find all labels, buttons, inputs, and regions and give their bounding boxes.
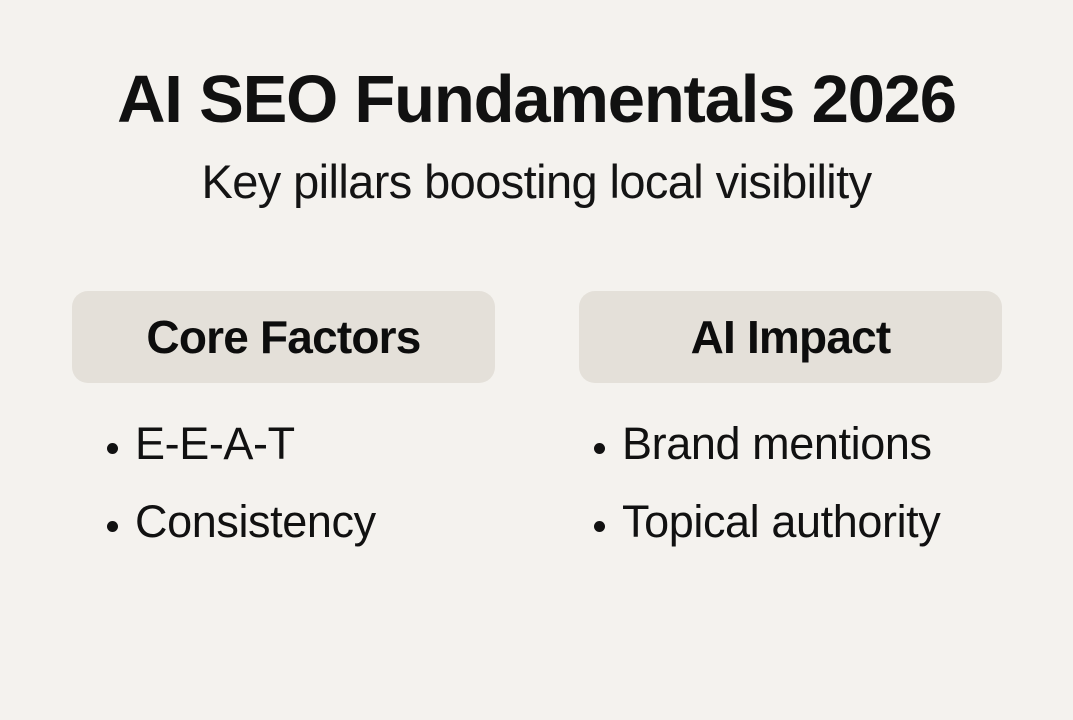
list-item: Brand mentions xyxy=(579,421,1002,499)
page-title: AI SEO Fundamentals 2026 xyxy=(0,66,1073,133)
bullet-dot-icon xyxy=(594,521,605,532)
list-item-label: Consistency xyxy=(135,499,376,544)
bullet-dot-icon xyxy=(107,443,118,454)
columns-container: Core Factors E-E-A-T Consistency AI Impa… xyxy=(72,291,1002,577)
list-item: E-E-A-T xyxy=(72,421,495,499)
bullet-list-ai-impact: Brand mentions Topical authority xyxy=(579,421,1002,577)
list-item: Consistency xyxy=(72,499,495,577)
bullet-dot-icon xyxy=(594,443,605,454)
card-header-ai-impact: AI Impact xyxy=(579,291,1002,383)
list-item-label: E-E-A-T xyxy=(135,421,295,466)
card-header-core-factors: Core Factors xyxy=(72,291,495,383)
page-subtitle: Key pillars boosting local visibility xyxy=(0,158,1073,205)
list-item-label: Brand mentions xyxy=(622,421,932,466)
column-core-factors: Core Factors E-E-A-T Consistency xyxy=(72,291,495,577)
column-ai-impact: AI Impact Brand mentions Topical authori… xyxy=(579,291,1002,577)
bullet-list-core-factors: E-E-A-T Consistency xyxy=(72,421,495,577)
list-item: Topical authority xyxy=(579,499,1002,577)
list-item-label: Topical authority xyxy=(622,499,940,544)
bullet-dot-icon xyxy=(107,521,118,532)
infographic-canvas: AI SEO Fundamentals 2026 Key pillars boo… xyxy=(0,0,1073,720)
